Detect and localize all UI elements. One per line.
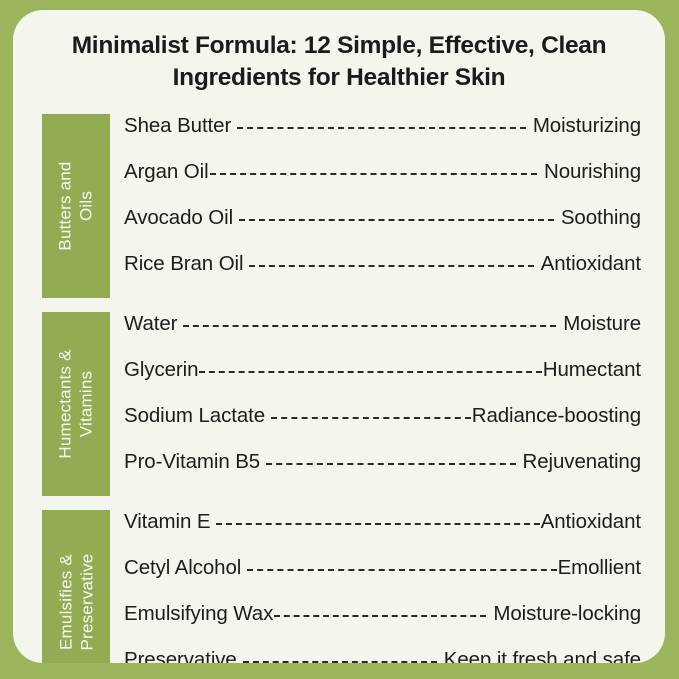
dotted-leader-icon [216, 522, 539, 525]
ingredient-benefit: Soothing [561, 206, 641, 230]
dotted-leader-icon [271, 416, 471, 419]
category-label-line2: Oils [76, 161, 97, 250]
ingredient-benefit: Antioxidant [541, 510, 641, 534]
ingredient-name: Argan Oil [124, 160, 209, 184]
dotted-leader-icon [243, 660, 437, 663]
list-item: Avocado Oil Soothing [124, 206, 641, 252]
category-label-line1: Emulsifies & [56, 554, 75, 650]
ingredient-benefit: Moisturizing [533, 114, 641, 138]
dotted-leader-icon [199, 370, 541, 373]
page-title: Minimalist Formula: 12 Simple, Effective… [39, 30, 639, 94]
category-label-line2: Preservative [76, 554, 97, 651]
ingredient-name: Emulsifying Wax [124, 602, 273, 626]
list-item: Emulsifying Wax Moisture-locking [124, 602, 641, 648]
ingredient-groups: Butters and Oils Shea Butter Moisturizin… [13, 114, 665, 663]
ingredient-name: Water [124, 312, 177, 336]
poster-root: Minimalist Formula: 12 Simple, Effective… [0, 0, 679, 679]
category-label-humectants-and-vitamins: Humectants & Vitamins [42, 312, 110, 496]
list-item: Cetyl Alcohol Emollient [124, 556, 641, 602]
dotted-leader-icon [247, 568, 556, 571]
dotted-leader-icon [274, 614, 486, 617]
ingredient-name: Shea Butter [124, 114, 231, 138]
list-item: Sodium Lactate Radiance-boosting [124, 404, 641, 450]
list-item: Rice Bran Oil Antioxidant [124, 252, 641, 298]
list-item: Water Moisture [124, 312, 641, 358]
ingredient-name: Rice Bran Oil [124, 252, 243, 276]
ingredient-name: Glycerin [124, 358, 198, 382]
list-item: Preservative Keep it fresh and safe [124, 648, 641, 663]
ingredient-name: Preservative [124, 648, 237, 663]
ingredient-name: Vitamin E [124, 510, 210, 534]
list-item: Shea Butter Moisturizing [124, 114, 641, 160]
list-item: Glycerin Humectant [124, 358, 641, 404]
dotted-leader-icon [237, 126, 526, 129]
dotted-leader-icon [266, 462, 515, 465]
ingredient-benefit: Antioxidant [541, 252, 641, 276]
ingredient-benefit: Keep it fresh and safe [444, 648, 641, 663]
group-rows: Shea Butter Moisturizing Argan Oil Nouri… [110, 114, 665, 298]
category-label-line2: Vitamins [76, 349, 97, 458]
ingredient-benefit: Nourishing [544, 160, 641, 184]
ingredient-name: Avocado Oil [124, 206, 233, 230]
ingredient-benefit: Moisture [563, 312, 641, 336]
category-label-emulsifies-and-preservative: Emulsifies & Preservative [42, 510, 110, 663]
ingredient-group: Emulsifies & Preservative Vitamin E Anti… [13, 510, 665, 663]
ingredient-name: Cetyl Alcohol [124, 556, 241, 580]
info-card: Minimalist Formula: 12 Simple, Effective… [13, 10, 665, 663]
group-rows: Water Moisture Glycerin Humectant Sodium… [110, 312, 665, 496]
ingredient-name: Pro-Vitamin B5 [124, 450, 260, 474]
ingredient-group: Humectants & Vitamins Water Moisture Gly… [13, 312, 665, 496]
ingredient-name: Sodium Lactate [124, 404, 265, 428]
ingredient-group: Butters and Oils Shea Butter Moisturizin… [13, 114, 665, 298]
list-item: Pro-Vitamin B5 Rejuvenating [124, 450, 641, 496]
dotted-leader-icon [249, 264, 533, 267]
ingredient-benefit: Moisture-locking [493, 602, 641, 626]
ingredient-benefit: Humectant [543, 358, 641, 382]
list-item: Vitamin E Antioxidant [124, 510, 641, 556]
ingredient-benefit: Emollient [558, 556, 641, 580]
ingredient-benefit: Rejuvenating [523, 450, 641, 474]
list-item: Argan Oil Nourishing [124, 160, 641, 206]
category-label-butters-and-oils: Butters and Oils [42, 114, 110, 298]
dotted-leader-icon [210, 172, 537, 175]
group-rows: Vitamin E Antioxidant Cetyl Alcohol Emol… [110, 510, 665, 663]
category-label-line1: Butters and [56, 161, 75, 250]
ingredient-benefit: Radiance-boosting [472, 404, 641, 428]
dotted-leader-icon [239, 218, 554, 221]
dotted-leader-icon [183, 324, 556, 327]
category-label-line1: Humectants & [56, 349, 75, 458]
